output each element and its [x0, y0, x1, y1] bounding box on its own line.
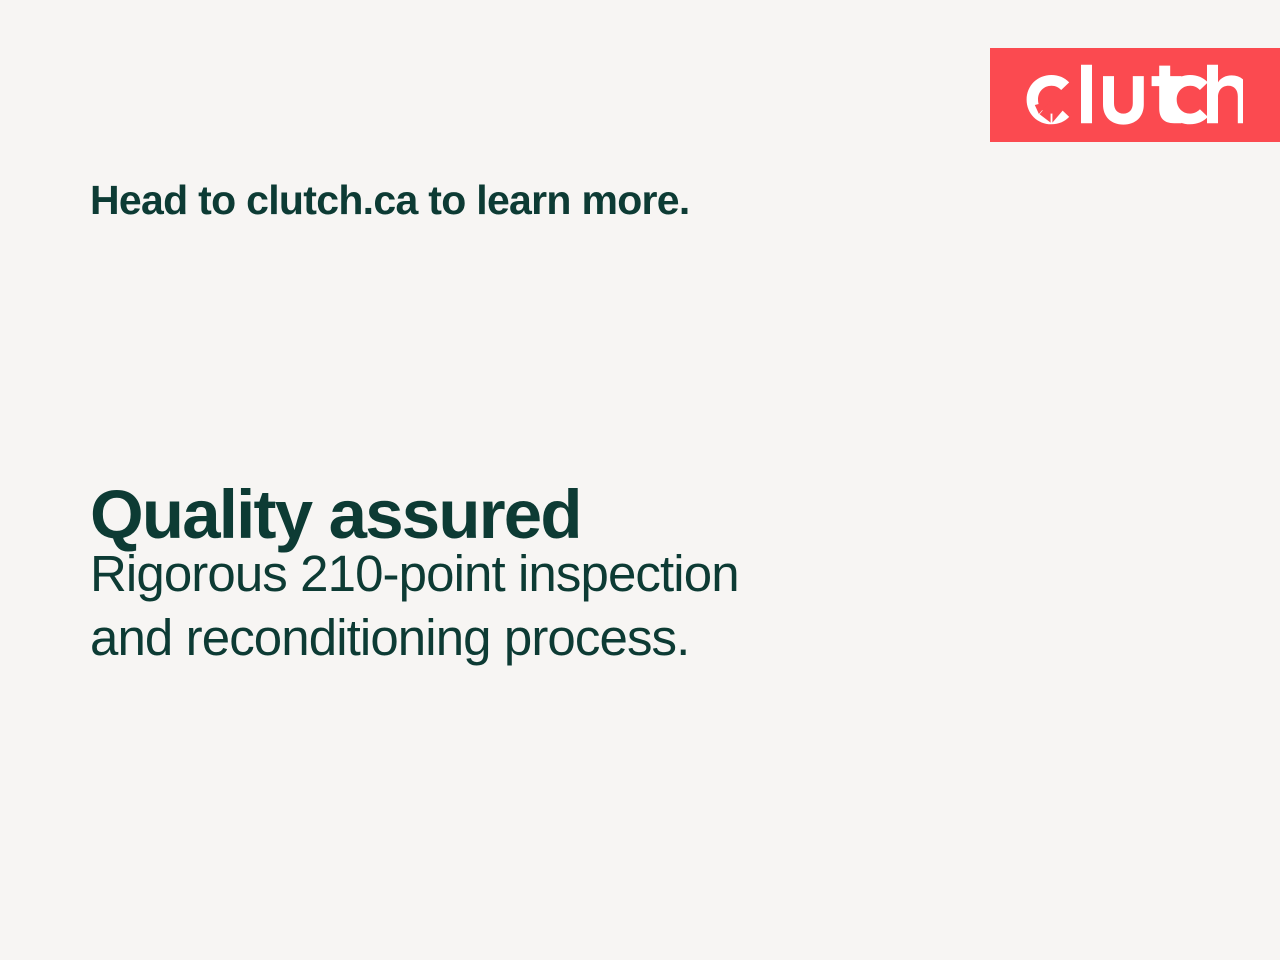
- clutch-logo-block[interactable]: [990, 48, 1280, 142]
- eyebrow-cta-text: Head to clutch.ca to learn more.: [90, 178, 690, 223]
- clutch-c-wedge-icon: [1027, 75, 1070, 124]
- clutch-wordmark: [1021, 48, 1243, 142]
- page-title: Quality assured: [90, 479, 581, 551]
- slide-canvas: Head to clutch.ca to learn more. Quality…: [0, 0, 1280, 960]
- body-copy-line-1: Rigorous 210-point inspection: [90, 542, 990, 606]
- body-copy: Rigorous 210-point inspection and recond…: [90, 542, 990, 671]
- clutch-wordmark-svg: [1021, 64, 1243, 126]
- body-copy-line-2: and reconditioning process.: [90, 606, 990, 670]
